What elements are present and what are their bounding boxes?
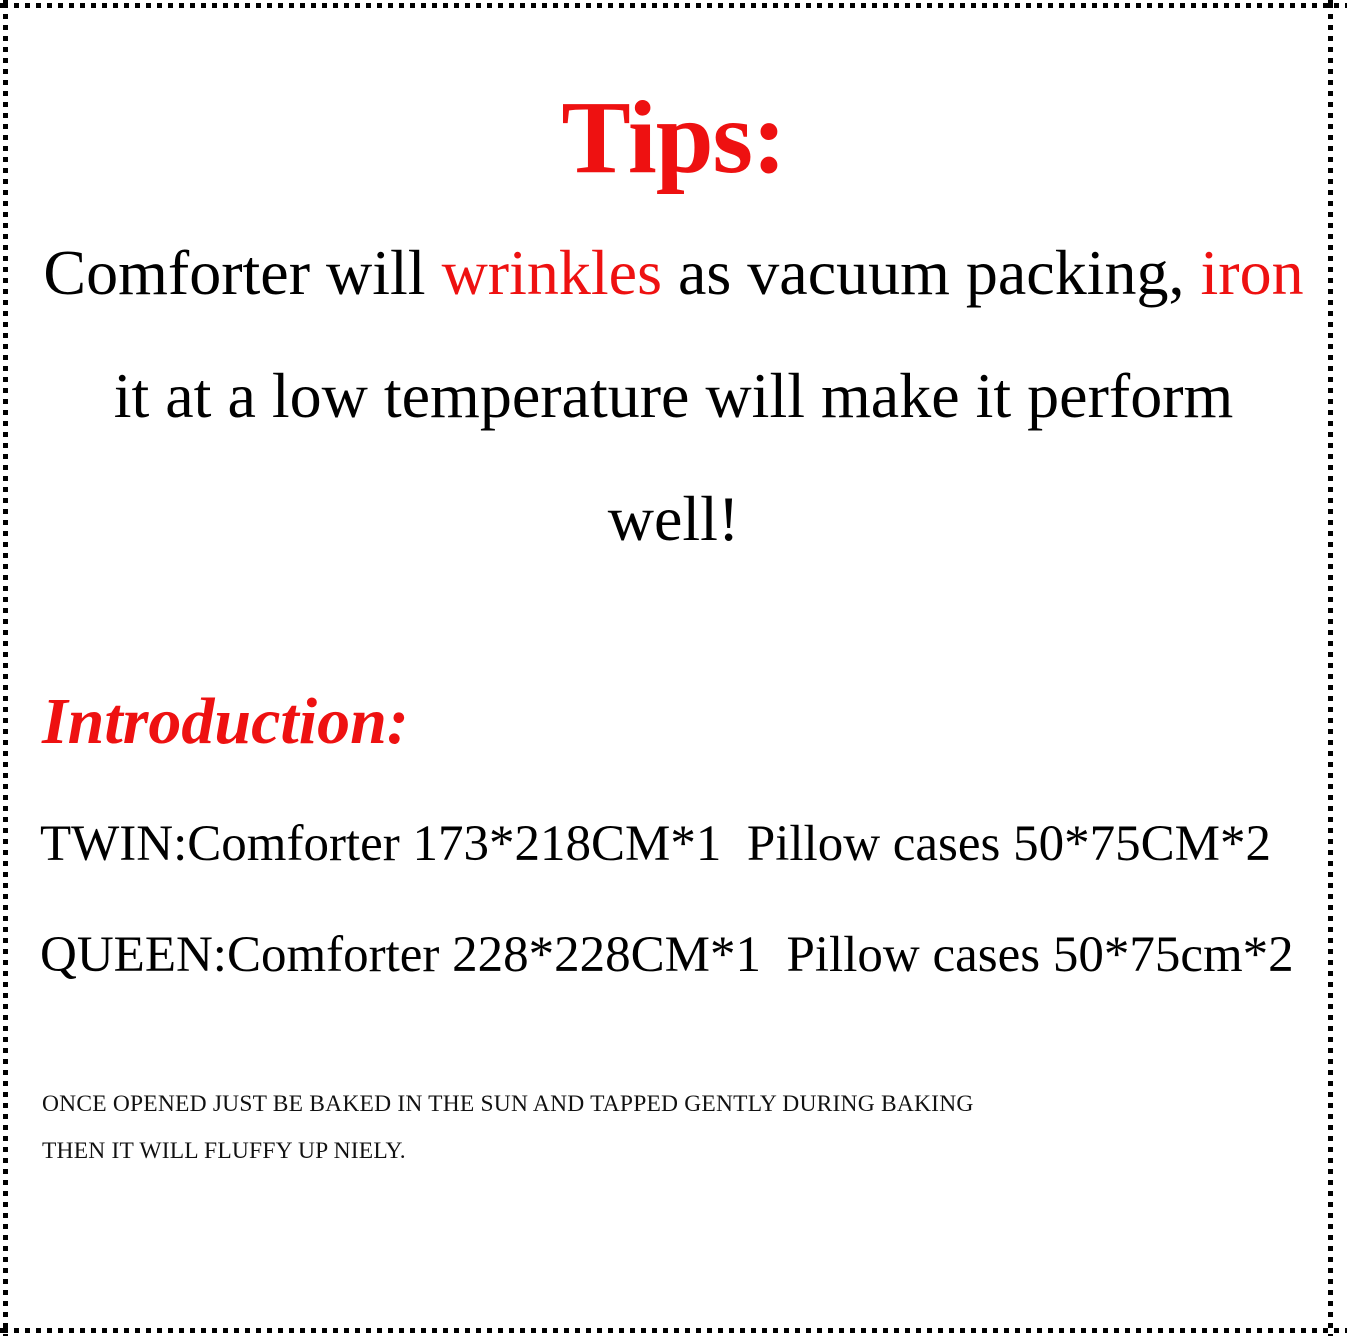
tips-line1-highlight-wrinkles: wrinkles — [442, 237, 662, 308]
spec-line-queen: QUEEN:Comforter 228*228CM*1 Pillow cases… — [40, 900, 1321, 1011]
tips-line1-text-before: Comforter will — [43, 237, 441, 308]
care-instructions: ONCE OPENED JUST BE BAKED IN THE SUN AND… — [26, 1011, 1321, 1175]
tips-line2-text-before: packing, — [966, 237, 1201, 308]
care-instructions-line-2: THEN IT WILL FLUFFY UP NIELY. — [42, 1128, 1321, 1175]
tips-paragraph: Comforter will wrinkles as vacuum packin… — [26, 190, 1321, 581]
tips-line2-highlight-iron: iron — [1200, 237, 1303, 308]
specification-list: TWIN:Comforter 173*218CM*1 Pillow cases … — [26, 755, 1321, 1011]
product-info-card: Tips: Comforter will wrinkles as vacuum … — [0, 0, 1347, 1336]
tips-heading: Tips: — [26, 0, 1321, 190]
tips-line1-text-after: as vacuum — [662, 237, 950, 308]
card-content: Tips: Comforter will wrinkles as vacuum … — [0, 0, 1347, 1336]
spec-line-twin: TWIN:Comforter 173*218CM*1 Pillow cases … — [40, 789, 1321, 900]
introduction-heading: Introduction: — [26, 581, 1321, 755]
tips-line2-text-after: it at a low temperature will — [114, 360, 805, 431]
care-instructions-line-1: ONCE OPENED JUST BE BAKED IN THE SUN AND… — [42, 1081, 1321, 1128]
